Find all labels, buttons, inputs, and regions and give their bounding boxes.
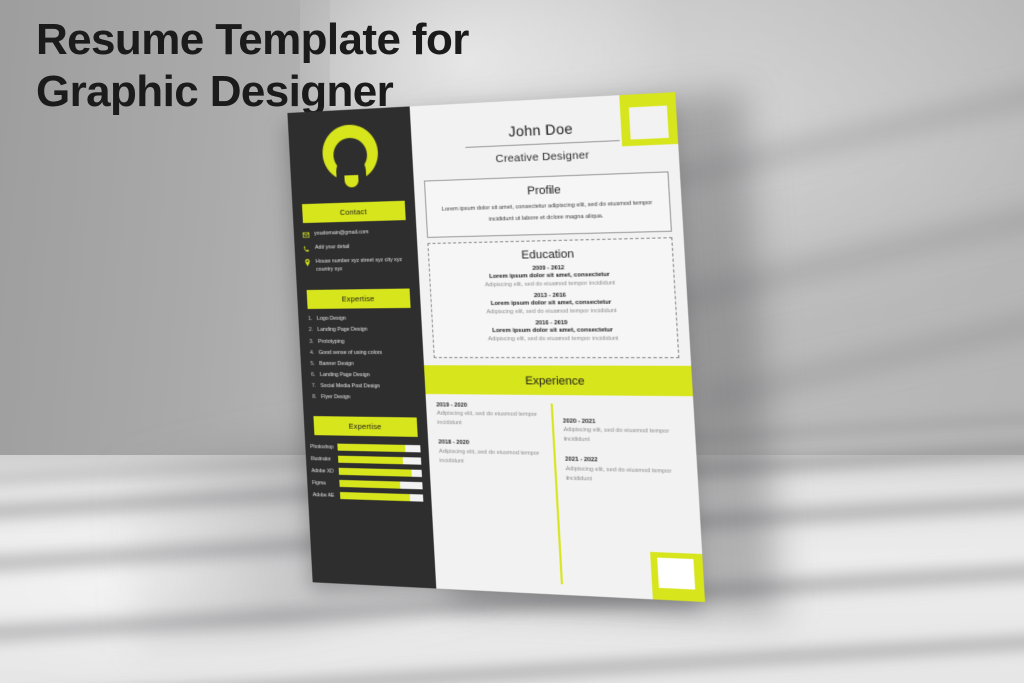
resume-document: Contact youdomain@gmail.com Add your det…: [287, 92, 705, 602]
experience-heading: Experience: [525, 375, 585, 388]
avatar: [287, 106, 414, 204]
experience-desc: Adipiscing elit, sed do eiusmod tempor i…: [563, 426, 684, 447]
resume-content: John Doe Creative Designer Profile Lorem…: [410, 92, 705, 602]
location-pin-icon: [304, 259, 312, 267]
contact-address: House number xyz street xyz city xyz cou…: [316, 257, 410, 274]
list-item: Landing Page Design: [309, 327, 415, 336]
skill-bar: [340, 492, 423, 502]
skill-bar: [339, 480, 422, 489]
experience-entry: 2021 - 2022 Adipiscing elit, sed do eius…: [565, 457, 687, 487]
education-desc: Adipiscing elit, sed do eiusmod tempor i…: [442, 279, 662, 289]
list-item: Banner Design: [310, 361, 416, 369]
phone-icon: [303, 245, 311, 253]
education-desc: Adipiscing elit, sed do eiusmod tempor i…: [445, 335, 665, 342]
education-item: 2016 - 2019 Lorem ipsum dolor sit amet, …: [444, 319, 665, 342]
skill-bar-list: Photoshop Illustrator Adobe XD Figma Ado…: [305, 443, 431, 502]
skill-row: Figma: [307, 479, 431, 490]
resume-mockup: Contact youdomain@gmail.com Add your det…: [287, 92, 705, 602]
skill-label: Adobe AE: [308, 492, 338, 499]
skill-row: Adobe AE: [308, 491, 432, 502]
list-item: Social Media Post Design: [312, 383, 418, 392]
skill-label: Adobe XD: [306, 468, 336, 475]
divider: [465, 140, 619, 148]
education-desc: Adipiscing elit, sed do eiusmod tempor i…: [443, 307, 663, 315]
experience-entry: 2018 - 2020 Adipiscing elit, sed do eius…: [438, 440, 553, 469]
contact-item: youdomain@gmail.com: [302, 228, 407, 239]
list-item: Prototyping: [309, 338, 415, 346]
skill-label: Figma: [307, 480, 337, 487]
corner-accent-top-right: [619, 92, 678, 146]
education-item: 2013 - 2016 Lorem ipsum dolor sit amet, …: [443, 291, 664, 316]
skill-bar: [337, 444, 420, 453]
education-item: 2009 - 2012 Lorem ipsum dolor sit amet, …: [441, 263, 662, 289]
profile-card: Profile Lorem ipsum dolor sit amet, cons…: [424, 171, 672, 237]
skill-bar: [338, 456, 421, 465]
experience-column-left: 2019 - 2020 Adipiscing elit, sed do eius…: [436, 402, 560, 584]
skill-row: Photoshop: [305, 443, 429, 453]
candidate-role: Creative Designer: [431, 146, 659, 168]
experience-banner: Experience: [424, 365, 693, 396]
skill-row: Illustrator: [306, 455, 430, 465]
contact-email: youdomain@gmail.com: [314, 229, 369, 238]
skill-label: Photoshop: [305, 444, 335, 451]
contact-heading: Contact: [302, 201, 406, 223]
education-card: Education 2009 - 2012 Lorem ipsum dolor …: [427, 237, 679, 358]
experience-desc: Adipiscing elit, sed do eiusmod tempor i…: [439, 447, 554, 468]
list-item: Logo Design: [308, 315, 413, 324]
list-item: Flyer Design: [312, 394, 418, 403]
contact-item: House number xyz street xyz city xyz cou…: [304, 257, 410, 275]
experience-date: 2020 - 2021: [563, 418, 684, 426]
education-title: Lorem ipsum dolor sit amet, consectetur: [443, 299, 663, 308]
experience-desc: Adipiscing elit, sed do eiusmod tempor i…: [437, 410, 552, 430]
experience-entry: 2019 - 2020 Adipiscing elit, sed do eius…: [436, 402, 551, 430]
profile-heading: Profile: [437, 180, 657, 200]
contact-item: Add your detail: [303, 243, 408, 254]
experience-desc: Adipiscing elit, sed do eiusmod tempor i…: [565, 465, 686, 487]
envelope-icon: [302, 231, 310, 239]
education-heading: Education: [440, 246, 660, 263]
contact-list: youdomain@gmail.com Add your detail Hous…: [302, 228, 409, 274]
skill-row: Adobe XD: [306, 467, 430, 477]
contact-phone: Add your detail: [315, 244, 350, 253]
skills-heading: Expertise: [313, 416, 417, 437]
person-avatar-icon: [321, 123, 380, 188]
skill-label: Illustrator: [306, 456, 336, 463]
profile-body: Lorem ipsum dolor sit amet, consectetur …: [438, 198, 658, 228]
education-date: 2016 - 2019: [444, 319, 664, 327]
expertise-list: Logo Design Landing Page Design Prototyp…: [308, 315, 418, 403]
expertise-heading: Expertise: [307, 289, 411, 309]
list-item: Good sense of using colors: [310, 350, 416, 358]
skill-bar: [339, 468, 422, 477]
list-item: Landing Page Design: [311, 372, 417, 381]
education-title: Lorem ipsum dolor sit amet, consectetur: [444, 327, 664, 334]
corner-accent-bottom-right: [650, 552, 705, 602]
experience-entry: 2020 - 2021 Adipiscing elit, sed do eius…: [563, 418, 685, 447]
experience-date: 2019 - 2020: [436, 402, 550, 409]
